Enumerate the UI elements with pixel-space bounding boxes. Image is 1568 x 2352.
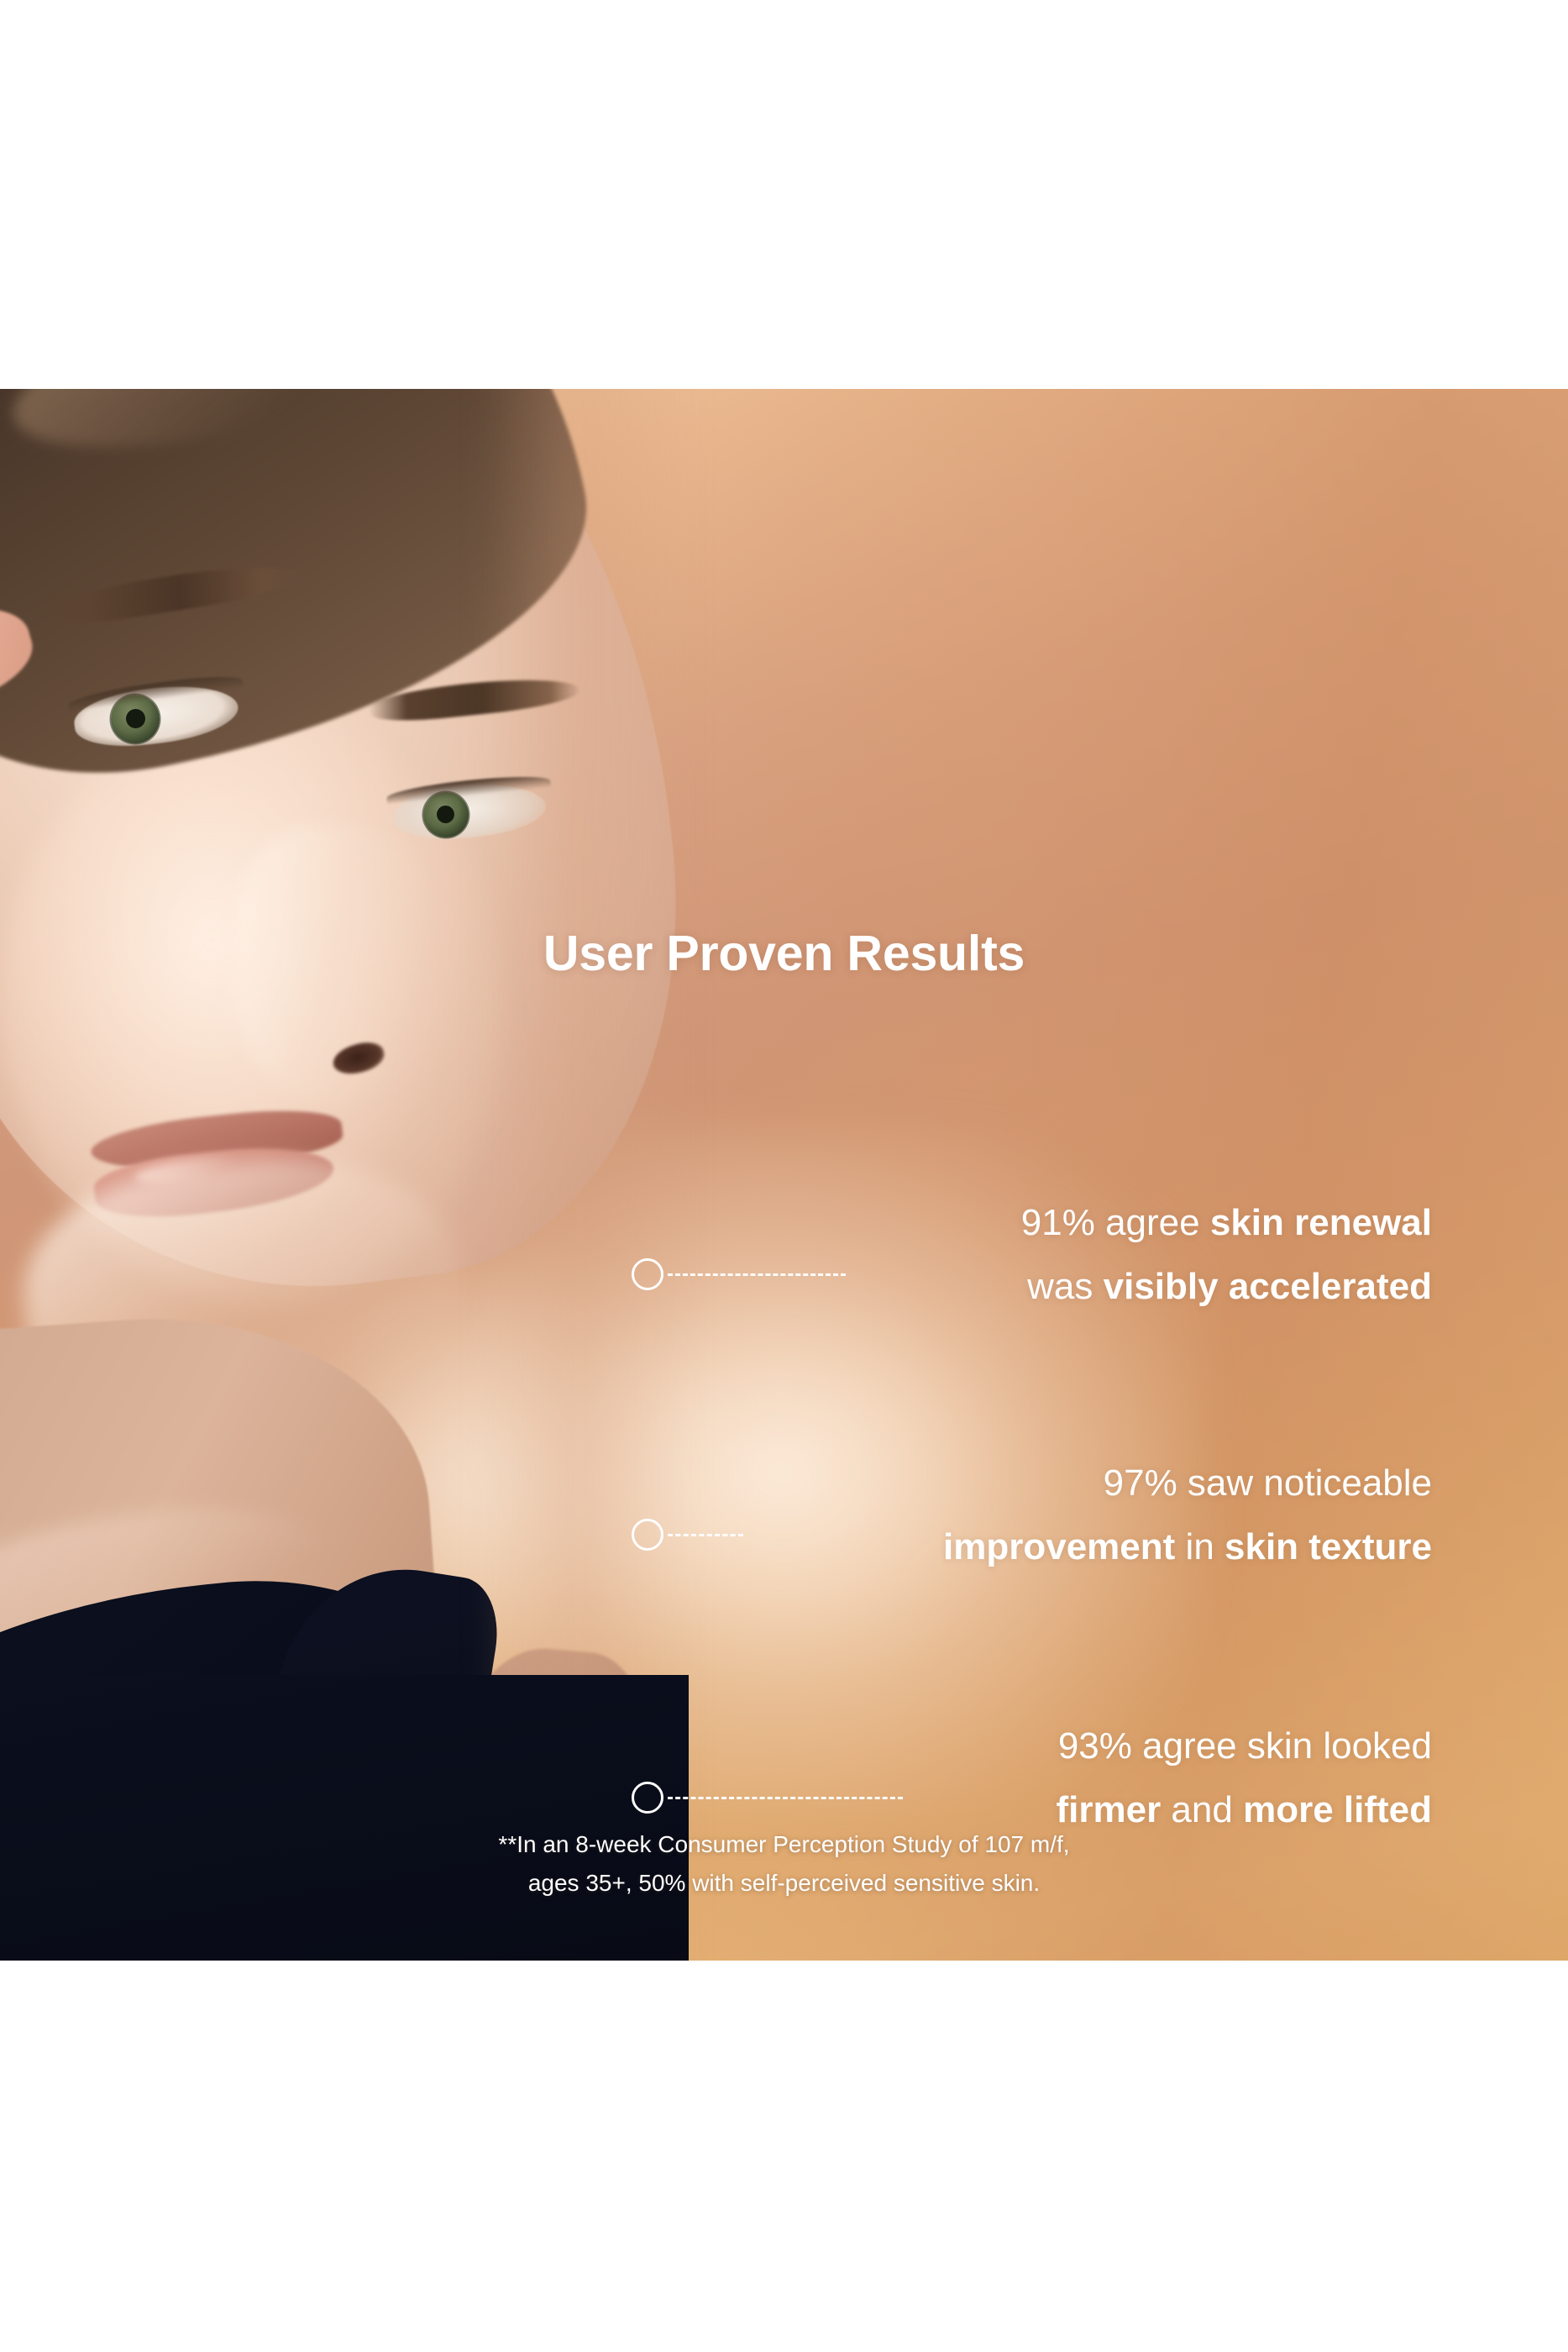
stat-item-skin-texture: 97% saw noticeable improvement in skin t… xyxy=(0,1452,1568,1561)
footnote-line-1: **In an 8-week Consumer Perception Study… xyxy=(0,1825,1568,1864)
stat-connector-firmness xyxy=(632,1781,903,1814)
circle-marker-icon xyxy=(632,1258,663,1290)
dashed-leader-line xyxy=(668,1534,743,1536)
stat-line-2: improvement in skin texture xyxy=(943,1515,1432,1579)
stat-item-skin-renewal: 91% agree skin renewal was visibly accel… xyxy=(0,1191,1568,1300)
stat-bold-text: improvement xyxy=(943,1526,1175,1567)
study-footnote: **In an 8-week Consumer Perception Study… xyxy=(0,1825,1568,1903)
stat-mid-text: in xyxy=(1175,1526,1225,1567)
footnote-line-2: ages 35+, 50% with self-perceived sensit… xyxy=(0,1864,1568,1903)
stat-mid-text: and xyxy=(1161,1789,1243,1830)
stat-bold-text: firmer xyxy=(1056,1789,1161,1830)
circle-marker-icon xyxy=(632,1519,663,1551)
stat-lead-text: 91% agree xyxy=(1021,1202,1210,1243)
stat-line-2: was visibly accelerated xyxy=(1021,1255,1432,1319)
stat-connector-skin-texture xyxy=(632,1518,743,1551)
stat-item-firmness: 93% agree skin looked firmer and more li… xyxy=(0,1714,1568,1824)
stat-bold-text-2: skin texture xyxy=(1225,1526,1432,1567)
creative-content-layer: User Proven Results 91% agree skin renew… xyxy=(0,389,1568,1961)
stat-lead-text: 97% saw noticeable xyxy=(1104,1462,1432,1504)
stat-bold-text-2: more lifted xyxy=(1243,1789,1432,1830)
stat-lead-text: was xyxy=(1027,1266,1103,1307)
stat-bold-text: skin renewal xyxy=(1210,1202,1432,1243)
page-title: User Proven Results xyxy=(0,925,1568,982)
stat-text-skin-renewal: 91% agree skin renewal was visibly accel… xyxy=(1021,1191,1432,1319)
stat-connector-skin-renewal xyxy=(632,1257,846,1291)
stat-line-1: 97% saw noticeable xyxy=(943,1452,1432,1515)
stat-line-1: 91% agree skin renewal xyxy=(1021,1191,1432,1255)
stat-line-1: 93% agree skin looked xyxy=(1056,1714,1432,1778)
dashed-leader-line xyxy=(668,1273,846,1276)
stat-text-skin-texture: 97% saw noticeable improvement in skin t… xyxy=(943,1452,1432,1579)
dashed-leader-line xyxy=(668,1797,903,1799)
stat-text-firmness: 93% agree skin looked firmer and more li… xyxy=(1056,1714,1432,1842)
stat-lead-text: 93% agree skin looked xyxy=(1058,1725,1432,1767)
circle-marker-icon xyxy=(632,1782,663,1814)
page-canvas: User Proven Results 91% agree skin renew… xyxy=(0,0,1568,2352)
product-results-creative: User Proven Results 91% agree skin renew… xyxy=(0,389,1568,1961)
stat-bold-text: visibly accelerated xyxy=(1104,1266,1432,1307)
